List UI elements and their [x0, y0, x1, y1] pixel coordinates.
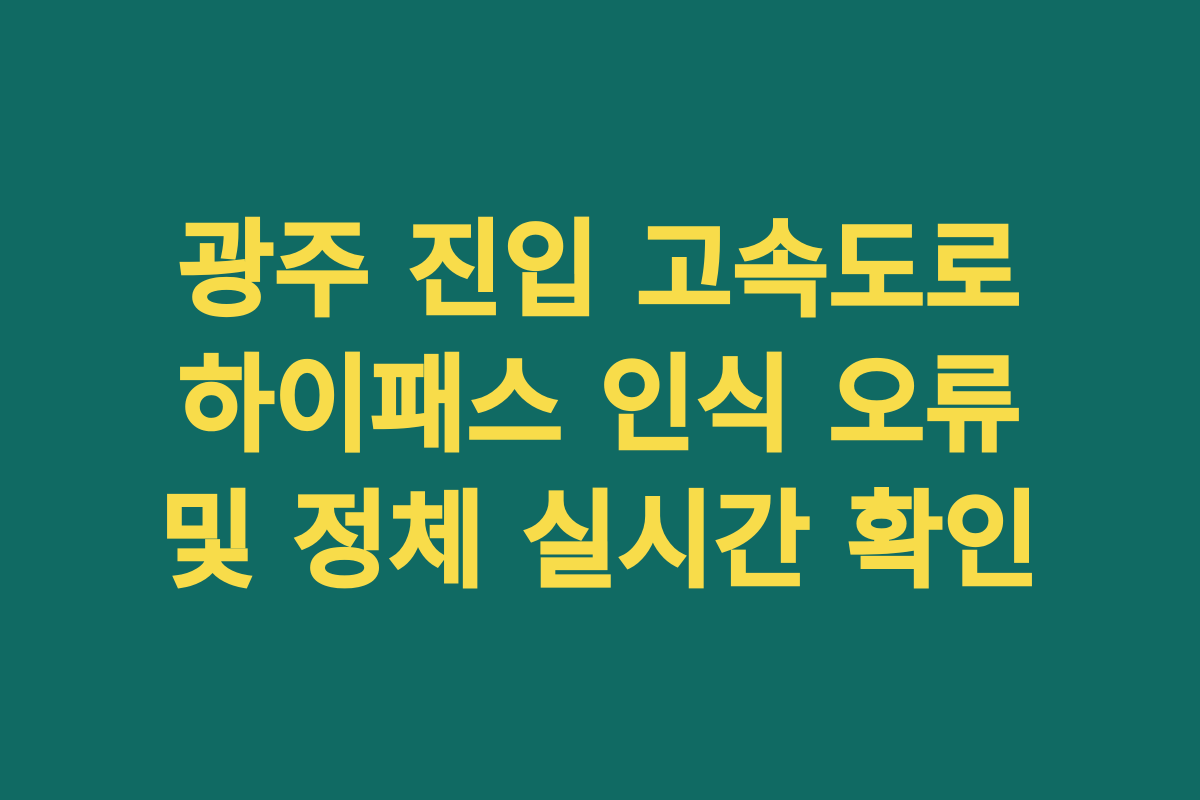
headline-block: 광주 진입 고속도로 하이패스 인식 오류 및 정체 실시간 확인	[125, 203, 1075, 609]
thumbnail-card: 광주 진입 고속도로 하이패스 인식 오류 및 정체 실시간 확인	[0, 0, 1200, 800]
headline-title: 광주 진입 고속도로 하이패스 인식 오류 및 정체 실시간 확인	[125, 203, 1075, 609]
